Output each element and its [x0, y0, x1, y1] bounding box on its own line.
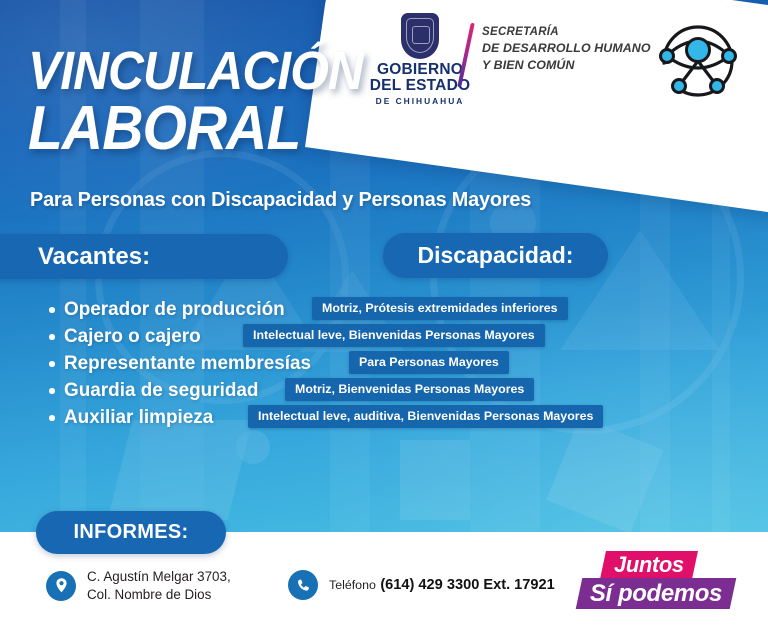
bullet-icon	[49, 307, 55, 313]
address-line1: C. Agustín Melgar 3703,	[87, 569, 231, 584]
shield-icon	[401, 13, 439, 59]
page-title-line2: LABORAL	[28, 98, 300, 160]
list-item: Auxiliar limpieza Intelectual leve, audi…	[0, 404, 768, 431]
disability-tag: Motriz, Bienvenidas Personas Mayores	[285, 378, 534, 401]
bullet-icon	[49, 415, 55, 421]
phone-number: (614) 429 3300 Ext. 17921	[380, 577, 554, 593]
bullet-icon	[49, 361, 55, 367]
contact-address: C. Agustín Melgar 3703, Col. Nombre de D…	[46, 568, 231, 603]
location-pin-icon	[46, 571, 76, 601]
secretaria-block: SECRETARÍA DE DESARROLLO HUMANO Y BIEN C…	[482, 25, 651, 74]
slogan-line1-banner: Juntos	[600, 551, 698, 579]
secretaria-line2: DE DESARROLLO HUMANO	[482, 40, 651, 57]
list-item: Cajero o cajero Intelectual leve, Bienve…	[0, 323, 768, 350]
list-item: Operador de producción Motriz, Prótesis …	[0, 296, 768, 323]
gobierno-line2: DEL ESTADO	[370, 78, 470, 94]
job-title: Cajero o cajero	[64, 325, 201, 348]
job-title: Representante membresías	[64, 352, 311, 375]
address-line2: Col. Nombre de Dios	[87, 587, 211, 602]
gobierno-line1: GOBIERNO	[377, 62, 463, 78]
disability-tag: Intelectual leve, Bienvenidas Personas M…	[243, 324, 545, 347]
poster-root: GOBIERNO DEL ESTADO DE CHIHUAHUA SECRETA…	[0, 0, 768, 644]
bullet-icon	[49, 334, 55, 340]
page-title-line1: VINCULACIÓN	[28, 44, 363, 98]
network-nodes-icon	[655, 18, 741, 104]
job-title: Operador de producción	[64, 298, 285, 321]
job-title: Auxiliar limpieza	[64, 406, 213, 429]
gobierno-line3: DE CHIHUAHUA	[376, 96, 465, 106]
job-listings: Operador de producción Motriz, Prótesis …	[0, 296, 768, 431]
contact-phone: Teléfono (614) 429 3300 Ext. 17921	[288, 570, 555, 600]
phone-text: Teléfono (614) 429 3300 Ext. 17921	[329, 576, 555, 594]
disability-tag: Para Personas Mayores	[349, 351, 509, 374]
page-subtitle: Para Personas con Discapacidad y Persona…	[30, 188, 531, 212]
secretaria-line3: Y BIEN COMÚN	[482, 57, 651, 74]
slogan-line2-banner: Sí podemos	[576, 578, 737, 609]
secretaria-line1: SECRETARÍA	[482, 25, 651, 40]
bullet-icon	[49, 388, 55, 394]
disability-tag: Motriz, Prótesis extremidades inferiores	[312, 297, 568, 320]
job-title: Guardia de seguridad	[64, 379, 258, 402]
list-item: Representante membresías Para Personas M…	[0, 350, 768, 377]
phone-label: Teléfono	[329, 578, 376, 592]
slogan-line1: Juntos	[614, 552, 684, 578]
informes-header: INFORMES:	[36, 511, 226, 554]
slogan-line2: Sí podemos	[590, 580, 722, 608]
disability-tag: Intelectual leve, auditiva, Bienvenidas …	[248, 405, 603, 428]
section-header-vacantes: Vacantes:	[0, 234, 288, 279]
address-text: C. Agustín Melgar 3703, Col. Nombre de D…	[87, 568, 231, 603]
section-header-discapacidad: Discapacidad:	[383, 233, 608, 278]
phone-icon	[288, 570, 318, 600]
slogan-logo: Juntos Sí podemos	[575, 551, 745, 613]
list-item: Guardia de seguridad Motriz, Bienvenidas…	[0, 377, 768, 404]
header-content: GOBIERNO DEL ESTADO DE CHIHUAHUA SECRETA…	[330, 0, 768, 146]
